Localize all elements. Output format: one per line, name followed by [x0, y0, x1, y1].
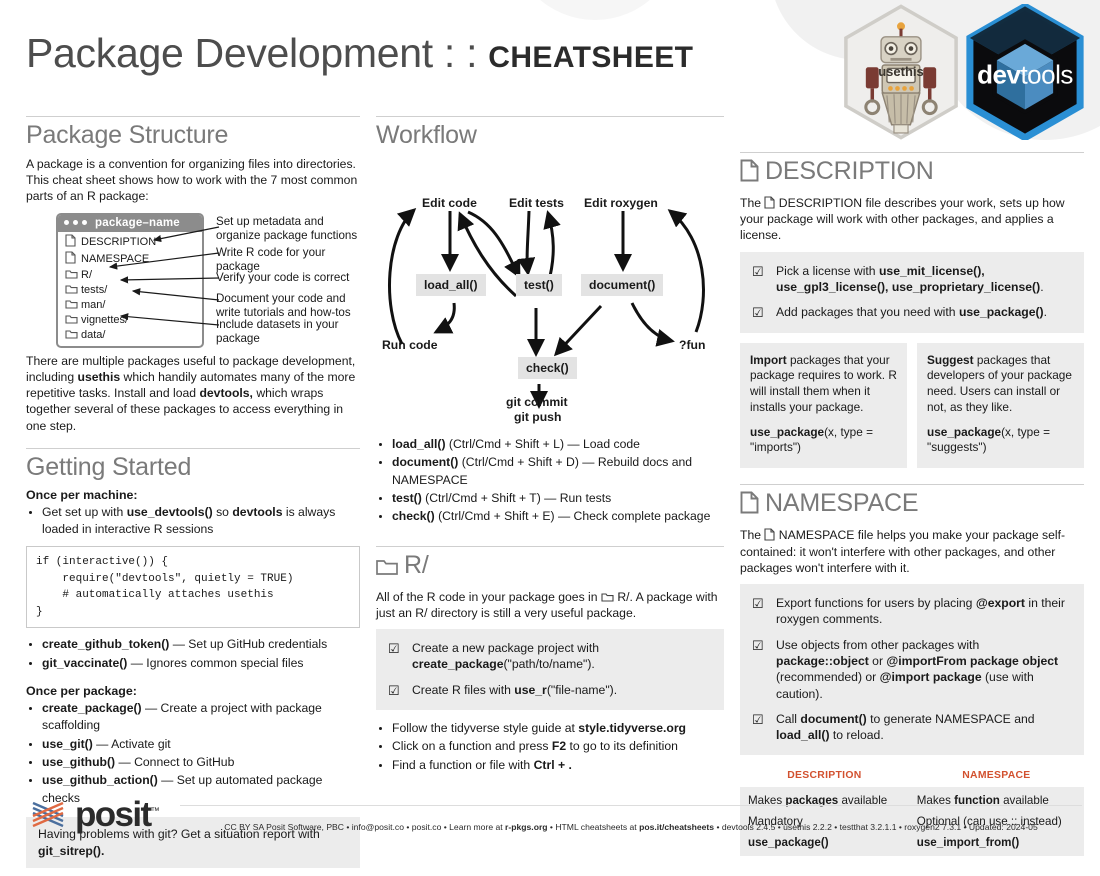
list-item: create_github_token() — Set up GitHub cr… [42, 636, 360, 653]
callout-r-checks: ☑ Create a new package project with crea… [376, 629, 724, 710]
workflow-node-load-all[interactable]: load_all() [416, 274, 486, 296]
key-ctrl-dot: Ctrl + . [534, 758, 572, 772]
page-title: Package Development : : CHEATSHEET [26, 30, 693, 77]
trademark-symbol: ™ [151, 805, 158, 815]
machine-function-list: create_github_token() — Set up GitHub cr… [26, 636, 360, 672]
posit-brand-label: posit [75, 795, 151, 834]
credit-part-c: • HTML cheatsheets at [548, 822, 640, 832]
check-post: ("path/to/name"). [503, 657, 594, 671]
check-pre: Create a new package project with [412, 641, 599, 655]
syntax-package-object: package::object [776, 654, 869, 668]
code-block-interactive: if (interactive()) { require("devtools",… [26, 546, 360, 628]
heading-workflow: Workflow [376, 121, 724, 150]
desc-intro-pre: The [740, 196, 764, 210]
check-part: to generate NAMESPACE and [867, 712, 1035, 726]
table-header-description: DESCRIPTION [740, 767, 909, 787]
subheading-once-per-machine: Once per machine: [26, 488, 360, 502]
card-import-title: Import [750, 353, 787, 367]
checklist-text: Use objects from other packages with pac… [776, 637, 1072, 702]
check-pre: Create R files with [412, 683, 514, 697]
bg-blob-3 [510, 0, 680, 20]
column-left: Package Structure A package is a convent… [26, 116, 360, 876]
fn-test: test() [392, 491, 422, 505]
workflow-label-git-commit: git commit [506, 395, 568, 409]
logo-group: usethis devtools [842, 4, 1084, 140]
check-part: or [869, 654, 887, 668]
link-cheatsheets[interactable]: pos.it/cheatsheets [639, 822, 714, 832]
checklist-item: ☑ Pick a license with use_mit_license(),… [752, 263, 1072, 296]
fn-create-github-token: create_github_token() [42, 637, 169, 651]
list-item: Get set up with use_devtools() so devtoo… [42, 504, 360, 539]
divider-namespace [740, 484, 1084, 485]
fn-use-package: use_package [750, 425, 824, 439]
fn-load-all: load_all() [776, 728, 830, 742]
workflow-label-run-code: Run code [382, 338, 438, 352]
checkbox-checked-icon[interactable]: ☑ [752, 711, 776, 744]
card-suggest: Suggest packages that developers of your… [917, 343, 1084, 469]
checklist-item: ☑ Add packages that you need with use_pa… [752, 304, 1072, 321]
fn-check: check() [392, 509, 435, 523]
tag-import: @import package [880, 670, 982, 684]
checkbox-checked-icon[interactable]: ☑ [752, 263, 776, 296]
fn-desc: — Activate git [93, 737, 171, 751]
workflow-node-document[interactable]: document() [581, 274, 663, 296]
workflow-label-edit-code: Edit code [422, 196, 477, 210]
bullet-mid: so [213, 505, 233, 519]
card-import-text: Import packages that your package requir… [750, 353, 897, 416]
fn-create-package: create_package [412, 657, 503, 671]
check-part: to reload. [830, 728, 884, 742]
devtools-label-tools: tools [1020, 59, 1072, 89]
cheatsheet-page: Package Development : : CHEATSHEET [0, 0, 1100, 850]
card-import: Import packages that your package requir… [740, 343, 907, 469]
heading-description: DESCRIPTION [740, 157, 1084, 189]
fn-use-git: use_git() [42, 737, 93, 751]
heading-namespace-label: NAMESPACE [765, 489, 918, 517]
card-suggest-text: Suggest packages that developers of your… [927, 353, 1074, 416]
fn-document: document() [800, 712, 866, 726]
workflow-label-edit-tests: Edit tests [509, 196, 564, 210]
column-middle: Workflow [376, 116, 724, 782]
credit-part-a: CC BY SA Posit Software, PBC • info@posi… [224, 822, 505, 832]
posit-logo: posit™ [28, 794, 158, 834]
bullet-pre: Find a function or file with [392, 758, 534, 772]
checklist-item: ☑ Create a new package project with crea… [388, 640, 712, 673]
check-post: . [1040, 280, 1043, 294]
r-section-intro: All of the R code in your package goes i… [376, 589, 724, 621]
list-item: Find a function or file with Ctrl + . [392, 757, 724, 774]
check-part: Call [776, 712, 800, 726]
checklist-text: Pick a license with use_mit_license(), u… [776, 263, 1072, 296]
heading-getting-started: Getting Started [26, 453, 360, 482]
fn-use-package: use_package() [959, 305, 1044, 319]
table-header-namespace: NAMESPACE [909, 767, 1084, 787]
bullet-pre: Click on a function and press [392, 739, 552, 753]
file-icon [764, 196, 775, 210]
page-footer: posit™ CC BY SA Posit Software, PBC • in… [0, 786, 1100, 850]
fn-use-r: use_r [514, 683, 547, 697]
page-title-cheatsheet: CHEATSHEET [488, 41, 693, 74]
list-item: load_all() (Ctrl/Cmd + Shift + L) — Load… [392, 436, 724, 453]
file-icon [764, 528, 775, 542]
list-item: use_git() — Activate git [42, 736, 360, 753]
file-icon [740, 159, 759, 189]
package-structure-diagram: package–name DESCRIPTION NAMESPACE R/ te… [26, 213, 360, 339]
check-pre: Pick a license with [776, 264, 879, 278]
list-item: test() (Ctrl/Cmd + Shift + T) — Run test… [392, 490, 724, 507]
footer-credits: CC BY SA Posit Software, PBC • info@posi… [180, 822, 1082, 832]
fn-use-github: use_github() [42, 755, 115, 769]
ns-intro-post: NAMESPACE file helps you make your packa… [740, 528, 1065, 574]
checklist-item: ☑ Create R files with use_r("file-name")… [388, 682, 712, 699]
footer-divider [180, 805, 1082, 806]
check-part: Export functions for users by placing [776, 596, 976, 610]
checkbox-checked-icon[interactable]: ☑ [752, 304, 776, 321]
heading-description-label: DESCRIPTION [765, 157, 934, 185]
shortcut-keys: (Ctrl/Cmd + Shift + L) — Load code [446, 437, 640, 451]
table-header-row: DESCRIPTION NAMESPACE [740, 767, 1084, 787]
list-item: Click on a function and press F2 to go t… [392, 738, 724, 755]
annotation-arrows [26, 213, 360, 339]
heading-r-label: R/ [404, 551, 429, 579]
card-suggest-title: Suggest [927, 353, 974, 367]
ns-intro-pre: The [740, 528, 764, 542]
fn-use-devtools: use_devtools() [127, 505, 213, 519]
fn-load-all: load_all() [392, 437, 446, 451]
list-item: check() (Ctrl/Cmd + Shift + E) — Check c… [392, 508, 724, 525]
workflow-label-fun: ?fun [679, 338, 705, 352]
bold-devtools: devtools [232, 505, 282, 519]
check-part: (recommended) or [776, 670, 880, 684]
column-right: DESCRIPTION The DESCRIPTION file describ… [740, 152, 1084, 856]
checklist-text: Call document() to generate NAMESPACE an… [776, 711, 1072, 744]
list-item: Follow the tidyverse style guide at styl… [392, 720, 724, 737]
fn-git-vaccinate: git_vaccinate() [42, 656, 127, 670]
folder-icon [601, 590, 614, 604]
r-section-bullets: Follow the tidyverse style guide at styl… [376, 720, 724, 774]
shortcut-keys: (Ctrl/Cmd + Shift + T) — Run tests [422, 491, 611, 505]
checklist-item: ☑ Call document() to generate NAMESPACE … [752, 711, 1072, 744]
divider-getting-started [26, 448, 360, 449]
callout-namespace-checks: ☑ Export functions for users by placing … [740, 584, 1084, 755]
workflow-node-check[interactable]: check() [518, 357, 577, 379]
checklist-item: ☑ Use objects from other packages with p… [752, 637, 1072, 702]
fn-desc: — Connect to GitHub [115, 755, 234, 769]
divider-description [740, 152, 1084, 153]
card-import-code: use_package(x, type = "imports") [750, 425, 897, 457]
tag-export: @export [976, 596, 1025, 610]
checkbox-checked-icon[interactable]: ☑ [752, 637, 776, 702]
namespace-intro: The NAMESPACE file helps you make your p… [740, 527, 1084, 576]
checkbox-checked-icon[interactable]: ☑ [752, 595, 776, 628]
file-icon [740, 491, 759, 521]
usethis-logo: usethis [842, 4, 960, 140]
tag-importfrom: @importFrom package object [886, 654, 1058, 668]
outro-usethis: usethis [78, 370, 121, 384]
page-title-main: Package Development : : [26, 30, 477, 76]
check-part: Use objects from other packages with [776, 638, 979, 652]
key-f2: F2 [552, 739, 566, 753]
divider-package-structure [26, 116, 360, 117]
list-item: create_package() — Create a project with… [42, 700, 360, 735]
workflow-diagram: Edit code Edit tests Edit roxygen load_a… [376, 156, 724, 418]
devtools-logo: devtools [966, 4, 1084, 140]
workflow-label-edit-roxygen: Edit roxygen [584, 196, 658, 210]
outro-devtools: devtools, [199, 386, 253, 400]
fn-desc: — Set up GitHub credentials [169, 637, 327, 651]
subheading-once-per-package: Once per package: [26, 684, 360, 698]
r-intro-pre: All of the R code in your package goes i… [376, 590, 601, 604]
credit-part-d: • devtools 2.4.5 • usethis 2.2.2 • testt… [714, 822, 1038, 832]
link-r-pkgs[interactable]: r-pkgs.org [505, 822, 548, 832]
shortcut-keys: (Ctrl/Cmd + Shift + E) — Check complete … [435, 509, 711, 523]
checklist-text: Export functions for users by placing @e… [776, 595, 1072, 628]
checklist-text: Add packages that you need with use_pack… [776, 304, 1072, 321]
heading-r-folder: R/ [376, 551, 724, 583]
desc-intro-post: DESCRIPTION file describes your work, se… [740, 196, 1065, 242]
check-post: ("file-name"). [547, 683, 617, 697]
import-suggest-cards: Import packages that your package requir… [740, 343, 1084, 469]
checkbox-checked-icon[interactable]: ☑ [388, 640, 412, 673]
bullet-pre: Follow the tidyverse style guide at [392, 721, 578, 735]
fn-document: document() [392, 455, 458, 469]
check-post: . [1044, 305, 1047, 319]
checkbox-checked-icon[interactable]: ☑ [388, 682, 412, 699]
devtools-logo-label: devtools [966, 59, 1084, 90]
posit-mark-icon [28, 794, 68, 834]
fn-create-package: create_package() [42, 701, 142, 715]
divider-workflow [376, 116, 724, 117]
list-item: document() (Ctrl/Cmd + Shift + D) — Rebu… [392, 454, 724, 489]
posit-wordmark: posit™ [75, 797, 158, 832]
check-pre: Add packages that you need with [776, 305, 959, 319]
divider-r-section [376, 546, 724, 547]
bullet-pre: Get set up with [42, 505, 127, 519]
checklist-item: ☑ Export functions for users by placing … [752, 595, 1072, 628]
workflow-node-test[interactable]: test() [516, 274, 562, 296]
bullet-post: to go to its definition [566, 739, 678, 753]
workflow-label-git-push: git push [514, 410, 561, 424]
link-style-guide[interactable]: style.tidyverse.org [578, 721, 686, 735]
list-item: use_github() — Connect to GitHub [42, 754, 360, 771]
heading-namespace: NAMESPACE [740, 489, 1084, 521]
description-intro: The DESCRIPTION file describes your work… [740, 195, 1084, 244]
folder-icon [376, 554, 398, 583]
checklist-text: Create a new package project with create… [412, 640, 712, 673]
card-suggest-code: use_package(x, type = "suggests") [927, 425, 1074, 457]
package-structure-intro: A package is a convention for organizing… [26, 156, 360, 205]
heading-package-structure: Package Structure [26, 121, 360, 150]
workflow-shortcut-list: load_all() (Ctrl/Cmd + Shift + L) — Load… [376, 436, 724, 526]
fn-use-package: use_package [927, 425, 1001, 439]
fn-desc: — Ignores common special files [127, 656, 303, 670]
machine-intro-list: Get set up with use_devtools() so devtoo… [26, 504, 360, 539]
usethis-logo-label: usethis [878, 64, 924, 79]
package-structure-outro: There are multiple packages useful to pa… [26, 353, 360, 434]
list-item: git_vaccinate() — Ignores common special… [42, 655, 360, 672]
checklist-text: Create R files with use_r("file-name"). [412, 682, 712, 699]
devtools-label-dev: dev [977, 59, 1020, 89]
callout-description-checks: ☑ Pick a license with use_mit_license(),… [740, 252, 1084, 333]
